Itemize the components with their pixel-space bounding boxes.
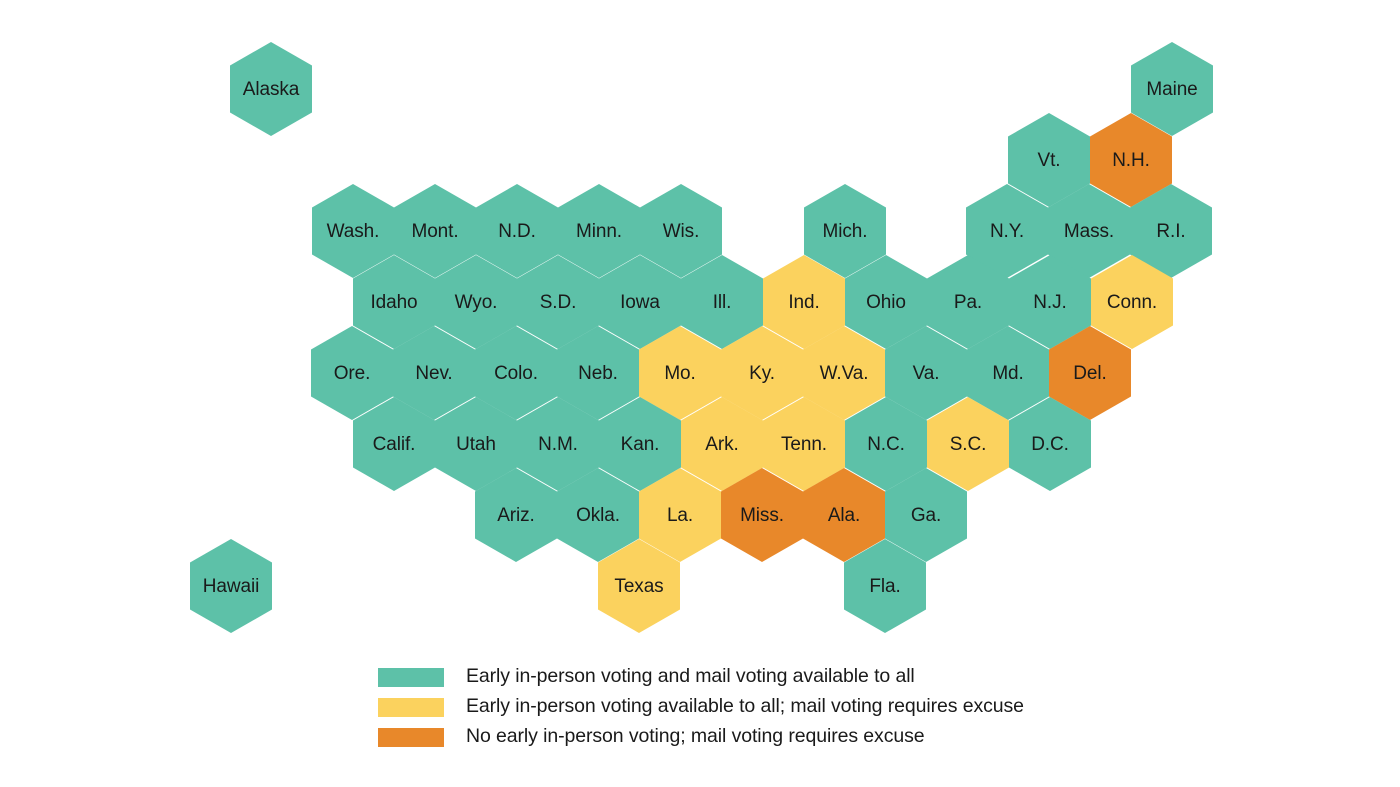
hex-cartogram-map: AlaskaMaineVt.N.H.Wash.Mont.N.D.Minn.Wis… [0, 0, 1400, 660]
legend-label: No early in-person voting; mail voting r… [466, 727, 925, 747]
state-hex-label: Wash. [327, 222, 380, 241]
state-hex-label: Alaska [243, 80, 299, 99]
state-hex-label: N.Y. [990, 222, 1024, 241]
state-hex-label: Hawaii [203, 577, 259, 596]
state-hex-hawaii[interactable]: Hawaii [190, 539, 272, 633]
state-hex-label: Tenn. [781, 435, 827, 454]
state-hex-label: Miss. [740, 506, 784, 525]
legend-swatch-orange [378, 728, 444, 747]
state-hex-label: D.C. [1031, 435, 1069, 454]
state-hex-label: Ohio [866, 293, 906, 312]
state-hex-label: Va. [913, 364, 940, 383]
state-hex-label: N.J. [1033, 293, 1066, 312]
legend-item-orange[interactable]: No early in-person voting; mail voting r… [378, 722, 1278, 752]
state-hex-alaska[interactable]: Alaska [230, 42, 312, 136]
state-hex-label: S.D. [540, 293, 577, 312]
state-hex-label: N.H. [1112, 151, 1150, 170]
state-hex-label: Mo. [664, 364, 695, 383]
state-hex-label: Ind. [788, 293, 819, 312]
state-hex-label: Maine [1146, 80, 1197, 99]
state-hex-label: Mass. [1064, 222, 1114, 241]
state-hex-label: Colo. [494, 364, 538, 383]
state-hex-label: Neb. [578, 364, 618, 383]
state-hex-label: W.Va. [820, 364, 869, 383]
state-hex-label: Iowa [620, 293, 660, 312]
state-hex-label: Nev. [415, 364, 452, 383]
legend-label: Early in-person voting and mail voting a… [466, 667, 915, 687]
state-hex-label: Vt. [1038, 151, 1061, 170]
state-hex-label: Utah [456, 435, 496, 454]
legend-item-teal[interactable]: Early in-person voting and mail voting a… [378, 662, 1278, 692]
legend-swatch-teal [378, 668, 444, 687]
state-hex-label: Wis. [663, 222, 700, 241]
map-legend: Early in-person voting and mail voting a… [378, 662, 1278, 752]
state-hex-label: Ariz. [497, 506, 535, 525]
state-hex-label: Del. [1073, 364, 1106, 383]
state-hex-label: Ark. [705, 435, 738, 454]
state-hex-label: La. [667, 506, 693, 525]
state-hex-label: Mich. [823, 222, 868, 241]
state-hex-label: Calif. [373, 435, 416, 454]
state-hex-label: N.D. [498, 222, 536, 241]
state-hex-label: Md. [992, 364, 1023, 383]
state-hex-label: Kan. [621, 435, 660, 454]
legend-item-yellow[interactable]: Early in-person voting available to all;… [378, 692, 1278, 722]
state-hex-label: Ala. [828, 506, 860, 525]
state-hex-label: Mont. [411, 222, 458, 241]
state-hex-label: Texas [614, 577, 663, 596]
state-hex-label: S.C. [950, 435, 987, 454]
state-hex-label: Conn. [1107, 293, 1157, 312]
state-hex-label: N.M. [538, 435, 578, 454]
state-hex-label: Minn. [576, 222, 622, 241]
state-hex-label: Okla. [576, 506, 620, 525]
state-hex-label: Fla. [869, 577, 900, 596]
state-hex-label: Ga. [911, 506, 941, 525]
state-hex-label: R.I. [1156, 222, 1185, 241]
state-hex-label: Wyo. [455, 293, 498, 312]
state-hex-label: Idaho [370, 293, 417, 312]
legend-label: Early in-person voting available to all;… [466, 697, 1024, 717]
state-hex-label: Ky. [749, 364, 775, 383]
state-hex-label: N.C. [867, 435, 905, 454]
state-hex-label: Pa. [954, 293, 982, 312]
legend-swatch-yellow [378, 698, 444, 717]
state-hex-label: Ill. [713, 293, 732, 312]
state-hex-label: Ore. [334, 364, 371, 383]
